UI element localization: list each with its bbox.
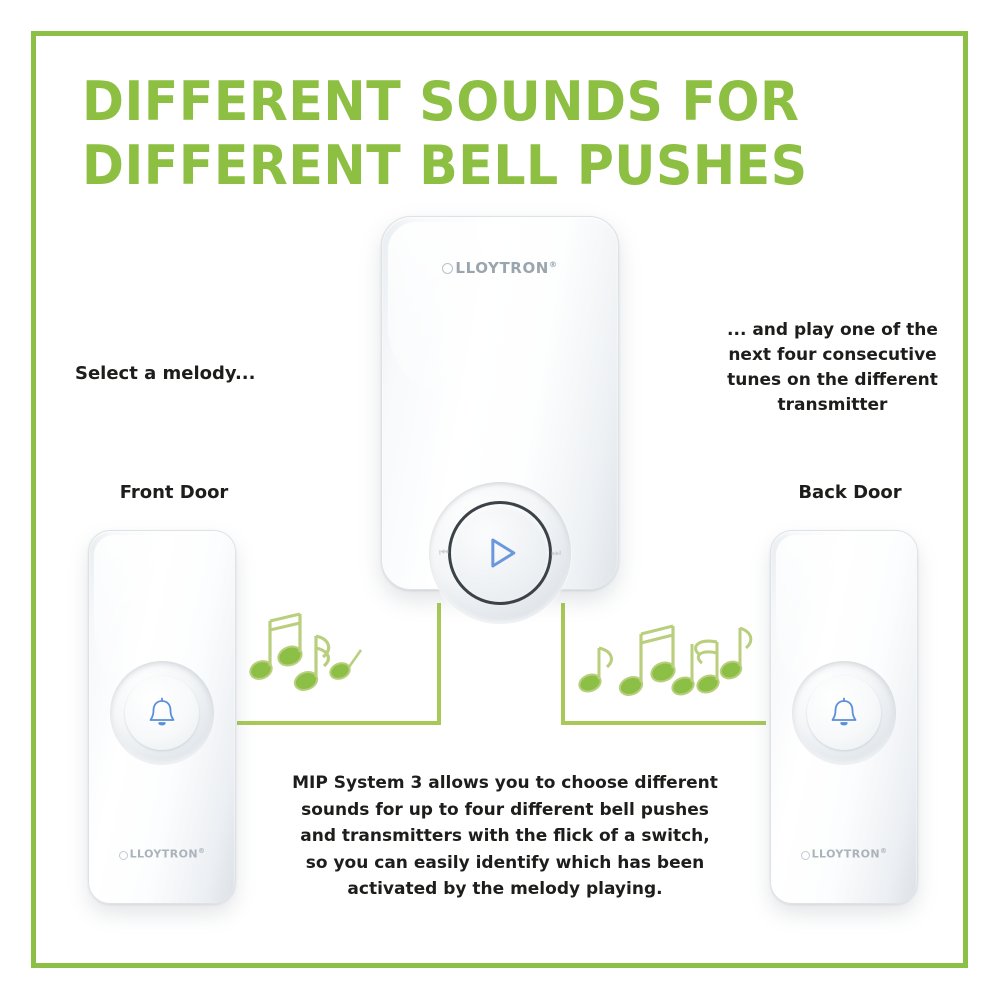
- front-door-label: Front Door: [104, 482, 244, 503]
- select-melody-label: Select a melody...: [75, 363, 255, 384]
- registered-symbol: ®: [198, 847, 205, 855]
- chime-play-button[interactable]: ⏮ ⏭: [429, 482, 571, 624]
- front-push-brand-text: LLOYTRON: [130, 848, 198, 861]
- brand-mark-icon: [119, 851, 128, 860]
- connector-riser-right: [561, 603, 565, 725]
- music-notes-left-icon: [243, 608, 363, 708]
- back-door-label: Back Door: [780, 482, 920, 503]
- music-notes-right-icon: [575, 608, 755, 708]
- chime-brand-text: LLOYTRON: [455, 259, 549, 277]
- back-door-bell-push[interactable]: LLOYTRON®: [770, 530, 918, 904]
- page-title: DIFFERENT SOUNDS FOR DIFFERENT BELL PUSH…: [82, 70, 914, 197]
- front-door-bell-push[interactable]: LLOYTRON®: [88, 530, 236, 904]
- description-paragraph: MIP System 3 allows you to choose differ…: [290, 770, 720, 903]
- brand-mark-icon: [442, 263, 453, 274]
- registered-symbol: ®: [549, 260, 558, 269]
- skip-previous-icon[interactable]: ⏮: [439, 546, 449, 560]
- title-line-1: DIFFERENT SOUNDS FOR: [82, 70, 914, 134]
- brand-mark-icon: [801, 851, 810, 860]
- back-push-brand-text: LLOYTRON: [812, 848, 880, 861]
- play-icon: [480, 532, 522, 574]
- chime-play-button-ring[interactable]: [448, 501, 552, 605]
- connector-arm-right: [561, 721, 766, 725]
- bell-icon: [147, 697, 177, 729]
- front-door-button[interactable]: [110, 661, 214, 765]
- chime-receiver-unit[interactable]: LLOYTRON® ⏮ ⏭: [381, 216, 619, 590]
- chime-brand-logo: LLOYTRON®: [382, 259, 618, 277]
- back-door-brand-logo: LLOYTRON®: [771, 847, 917, 861]
- connector-arm-left: [237, 721, 441, 725]
- connector-riser-left: [437, 603, 441, 725]
- front-door-button-face[interactable]: [125, 676, 199, 750]
- play-next-callout: ... and play one of the next four consec…: [715, 318, 950, 419]
- back-door-button-face[interactable]: [807, 676, 881, 750]
- bell-icon: [829, 697, 859, 729]
- skip-next-icon[interactable]: ⏭: [551, 546, 561, 560]
- title-line-2: DIFFERENT BELL PUSHES: [82, 134, 914, 198]
- back-door-button[interactable]: [792, 661, 896, 765]
- infographic-page: DIFFERENT SOUNDS FOR DIFFERENT BELL PUSH…: [0, 0, 1000, 1000]
- front-door-brand-logo: LLOYTRON®: [89, 847, 235, 861]
- registered-symbol: ®: [880, 847, 887, 855]
